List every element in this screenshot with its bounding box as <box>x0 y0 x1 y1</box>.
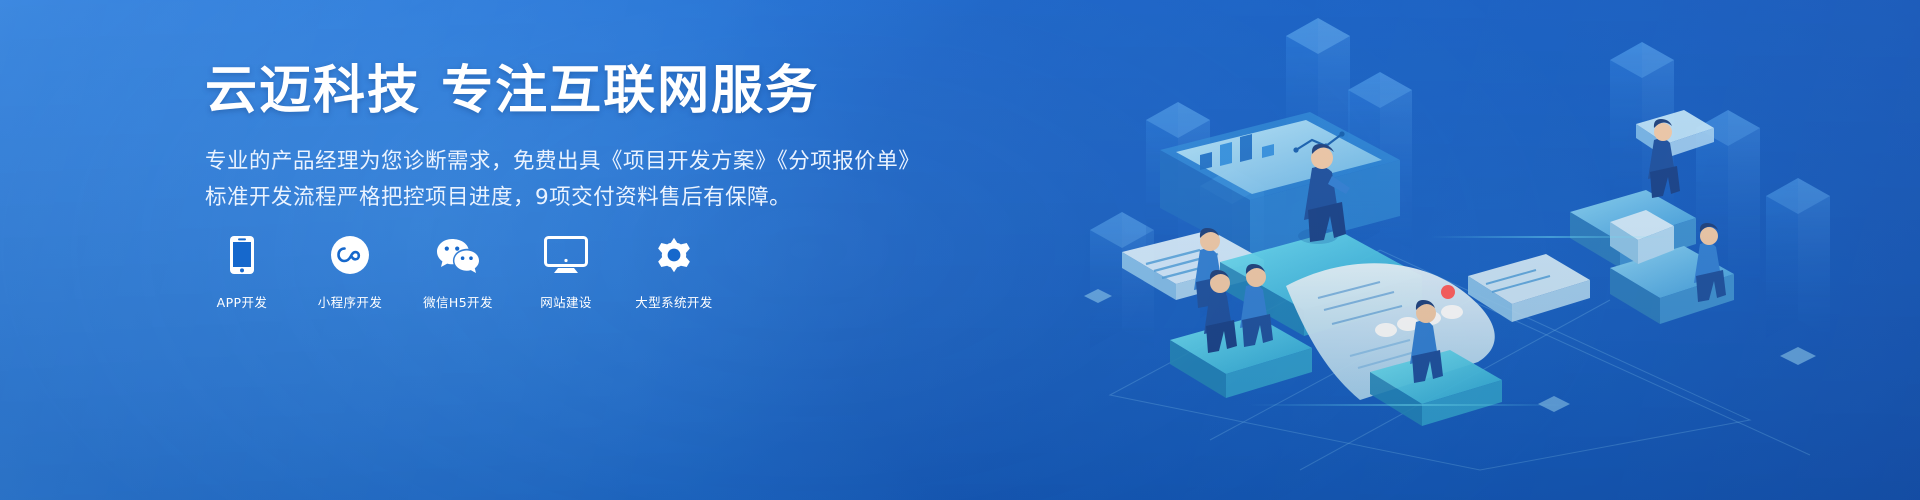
service-list: APP开发 小程序开发 微信 <box>205 232 711 311</box>
cube-block <box>1610 210 1674 264</box>
person-lower-left-b <box>1240 264 1273 347</box>
banner-content: 云迈科技 专注互联网服务 专业的产品经理为您诊断需求，免费出具《项目开发方案》《… <box>205 62 945 215</box>
service-item-website[interactable]: 网站建设 <box>529 232 603 311</box>
floating-panel <box>1636 110 1714 158</box>
monitor-icon <box>544 232 588 278</box>
service-label: 小程序开发 <box>318 292 383 311</box>
service-item-wechat-h5[interactable]: 微信H5开发 <box>421 232 495 311</box>
service-label: 微信H5开发 <box>423 292 493 311</box>
person-lower-left-a <box>1204 270 1237 353</box>
background-bars <box>1090 18 1830 348</box>
service-label: 网站建设 <box>540 292 592 311</box>
floor-grid <box>1110 250 1810 470</box>
person-right-upper <box>1648 119 1680 198</box>
person-standing-center <box>1298 144 1350 244</box>
service-item-large-system[interactable]: 大型系统开发 <box>637 232 711 311</box>
hero-banner: 云迈科技 专注互联网服务 专业的产品经理为您诊断需求，免费出具《项目开发方案》《… <box>0 0 1920 500</box>
floating-diamonds <box>1084 289 1816 412</box>
gear-icon <box>653 232 695 278</box>
mobile-phone-icon <box>229 232 255 278</box>
page-title: 云迈科技 专注互联网服务 <box>205 62 945 120</box>
pedestal-lower-left <box>1170 316 1312 398</box>
subtitle-line-1: 专业的产品经理为您诊断需求，免费出具《项目开发方案》《分项报价单》 <box>205 144 945 179</box>
glow-lines <box>1250 236 1670 406</box>
person-seated-left <box>1174 228 1256 308</box>
center-pedestal <box>1220 230 1422 336</box>
service-item-app[interactable]: APP开发 <box>205 232 279 311</box>
service-label: 大型系统开发 <box>635 292 712 311</box>
dashboard-screen <box>1160 112 1400 256</box>
service-label: APP开发 <box>217 292 268 311</box>
browser-panel <box>1468 254 1590 322</box>
chart-card <box>1122 230 1264 300</box>
pedestal-lower-right <box>1370 350 1502 426</box>
subtitle-line-2: 标准开发流程严格把控项目进度，9项交付资料售后有保障。 <box>205 180 945 215</box>
wechat-icon <box>435 232 481 278</box>
mini-program-icon <box>330 232 370 278</box>
isometric-illustration <box>1050 0 1920 500</box>
person-lower-right <box>1410 300 1443 383</box>
person-right-lower <box>1694 223 1726 302</box>
data-sheet <box>1286 263 1495 400</box>
banner-subtitle: 专业的产品经理为您诊断需求，免费出具《项目开发方案》《分项报价单》 标准开发流程… <box>205 144 945 215</box>
right-steps <box>1570 190 1734 324</box>
service-item-mini-program[interactable]: 小程序开发 <box>313 232 387 311</box>
